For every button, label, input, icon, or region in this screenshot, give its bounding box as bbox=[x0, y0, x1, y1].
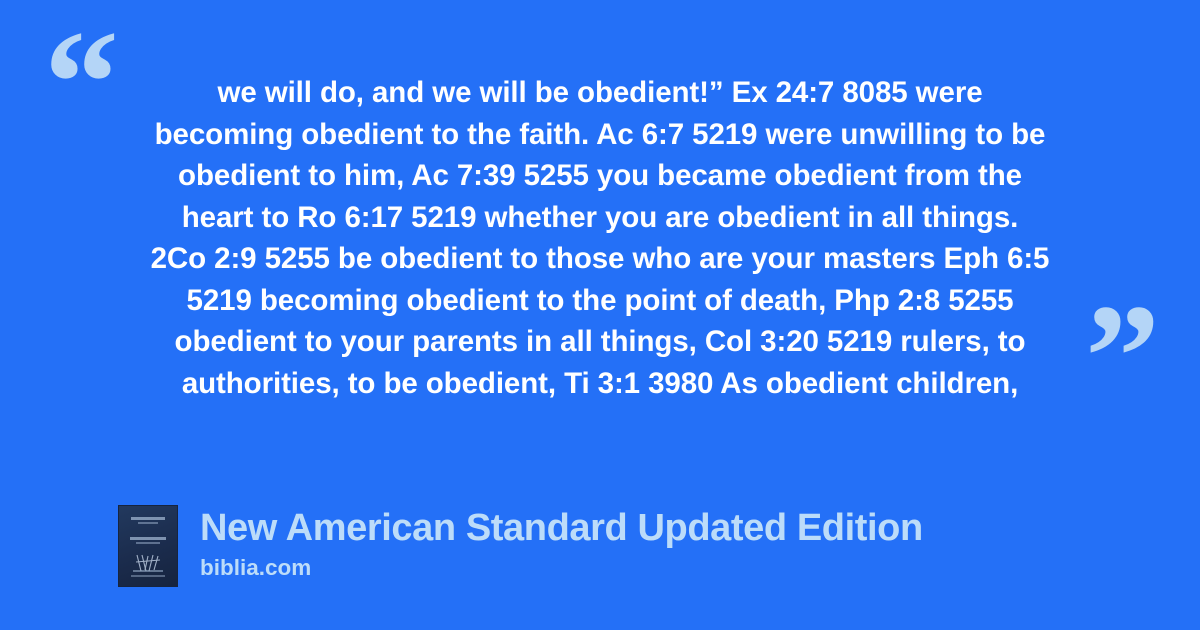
quote-card: “ we will do, and we will be obedient!” … bbox=[0, 0, 1200, 630]
cover-text-line bbox=[130, 537, 166, 540]
site-name: biblia.com bbox=[200, 554, 923, 582]
cover-text-line bbox=[131, 575, 165, 577]
footer-text-group: New American Standard Updated Edition bi… bbox=[200, 505, 923, 582]
cover-text-line bbox=[133, 570, 163, 572]
cover-text-line bbox=[131, 517, 165, 520]
quote-line: we will do, and we will be obedient!” Ex… bbox=[100, 72, 1100, 114]
quote-line: obedient to him, Ac 7:39 5255 you became… bbox=[100, 155, 1100, 197]
quote-line: becoming obedient to the faith. Ac 6:7 5… bbox=[100, 114, 1100, 156]
quote-line: obedient to your parents in all things, … bbox=[100, 321, 1100, 363]
quote-line: 5219 becoming obedient to the point of d… bbox=[100, 280, 1100, 322]
quote-line: heart to Ro 6:17 5219 whether you are ob… bbox=[100, 197, 1100, 239]
closing-quote-icon: ” bbox=[1085, 282, 1158, 432]
edition-title: New American Standard Updated Edition bbox=[200, 507, 923, 550]
cover-text-line bbox=[136, 542, 160, 544]
cover-text-line bbox=[138, 522, 158, 524]
footer: New American Standard Updated Edition bi… bbox=[118, 505, 923, 587]
book-cover-icon bbox=[118, 505, 178, 587]
quote-line: 2Co 2:9 5255 be obedient to those who ar… bbox=[100, 238, 1100, 280]
quote-text-block: we will do, and we will be obedient!” Ex… bbox=[100, 72, 1100, 404]
quote-line: authorities, to be obedient, Ti 3:1 3980… bbox=[100, 363, 1100, 405]
